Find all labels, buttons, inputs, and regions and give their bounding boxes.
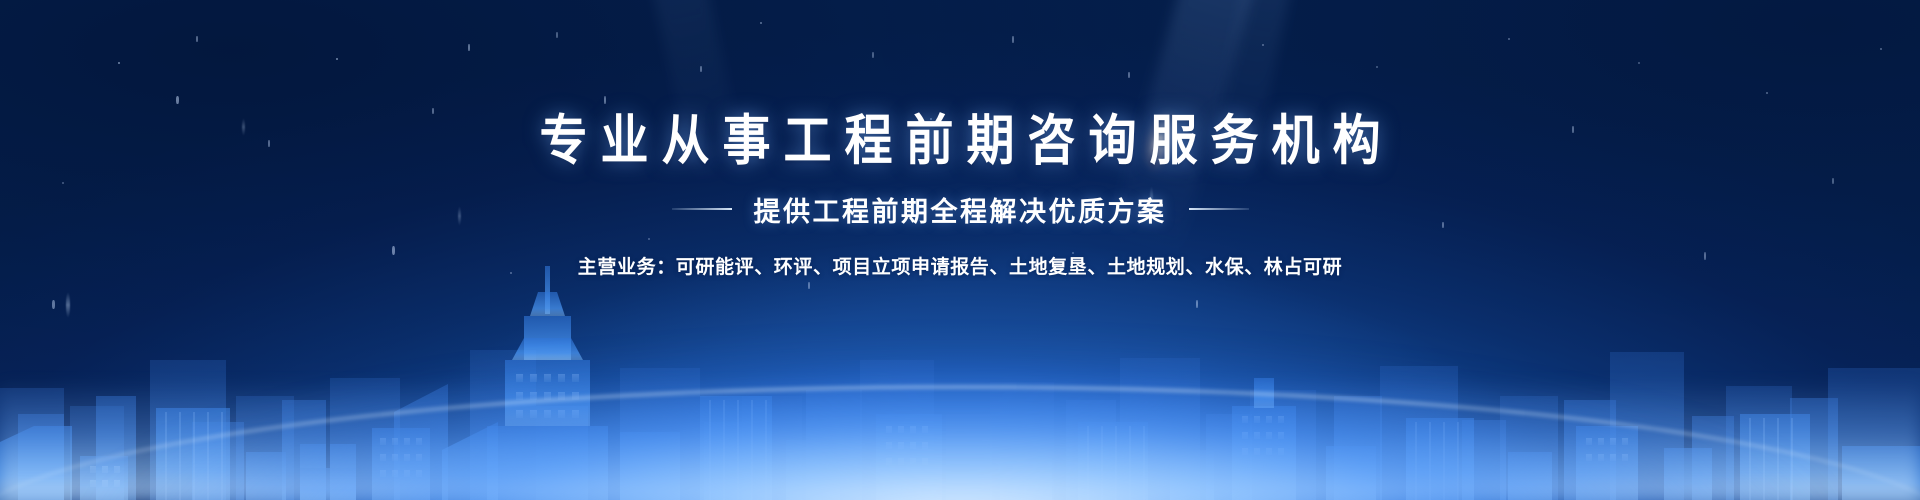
dash-left-icon — [672, 208, 732, 210]
banner-content: 专业从事工程前期咨询服务机构 提供工程前期全程解决优质方案 主营业务：可研能评、… — [0, 0, 1920, 500]
banner-business-line: 主营业务：可研能评、环评、项目立项申请报告、土地复垦、土地规划、水保、林占可研 — [578, 252, 1342, 279]
banner-subtitle: 提供工程前期全程解决优质方案 — [754, 190, 1167, 229]
banner-headline: 专业从事工程前期咨询服务机构 — [526, 113, 1393, 171]
dash-right-icon — [1189, 208, 1249, 210]
hero-banner: 专业从事工程前期咨询服务机构 提供工程前期全程解决优质方案 主营业务：可研能评、… — [0, 0, 1920, 500]
banner-subtitle-row: 提供工程前期全程解决优质方案 — [672, 190, 1249, 229]
